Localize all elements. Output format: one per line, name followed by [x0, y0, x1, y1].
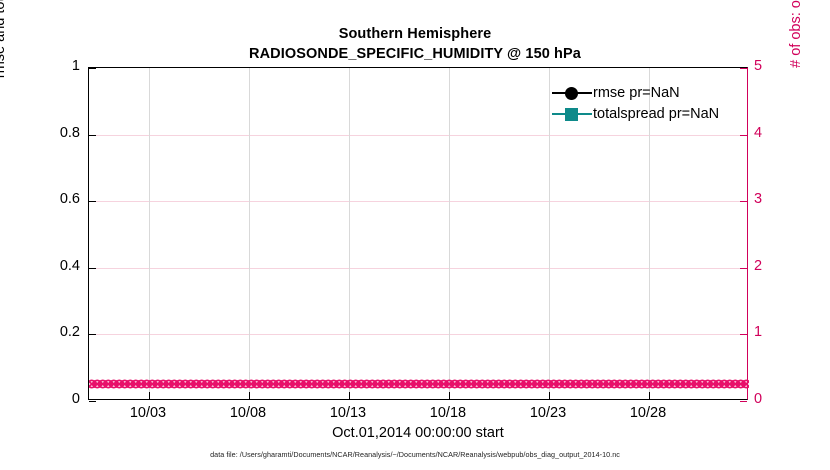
x-axis-tick-label: 10/18 — [408, 405, 488, 421]
y-axis-right-tick-label: 2 — [754, 258, 794, 274]
y-axis-left-title: rmse and totalspread — [0, 0, 8, 125]
observation-count-markers — [89, 384, 747, 400]
y-axis-left-tick-label: 0.6 — [20, 191, 80, 207]
x-axis-tick-label: 10/23 — [508, 405, 588, 421]
legend-label-totalspread: totalspread pr=NaN — [592, 106, 719, 122]
y-axis-right-tick-label: 3 — [754, 191, 794, 207]
x-axis-tick-label: 10/08 — [208, 405, 288, 421]
obs-marker-svg — [89, 375, 749, 393]
y-axis-left-tick-label: 0.2 — [20, 324, 80, 340]
tick-mark-left — [89, 401, 96, 402]
data-file-note: data file: /Users/gharamti/Documents/NCA… — [0, 450, 830, 459]
x-axis-tick-label: 10/28 — [608, 405, 688, 421]
circle-marker-icon — [565, 87, 578, 100]
y-axis-left-tick-label: 0 — [20, 391, 80, 407]
x-axis-tick-label: 10/03 — [108, 405, 188, 421]
legend-entry-rmse: rmse pr=NaN — [552, 82, 748, 103]
legend-label-rmse: rmse pr=NaN — [592, 85, 680, 101]
legend-swatch-totalspread — [552, 106, 592, 122]
y-axis-left-tick-label: 0.8 — [20, 125, 80, 141]
legend-entry-totalspread: totalspread pr=NaN — [552, 103, 748, 124]
title-line-region: Southern Hemisphere — [0, 24, 830, 44]
legend-swatch-rmse — [552, 85, 592, 101]
title-line-variable: RADIOSONDE_SPECIFIC_HUMIDITY @ 150 hPa — [0, 44, 830, 64]
legend: rmse pr=NaN totalspread pr=NaN — [552, 82, 748, 124]
y-axis-right-tick-label: 4 — [754, 125, 794, 141]
y-axis-right-tick-label: 0 — [754, 391, 794, 407]
y-axis-left-tick-label: 1 — [20, 58, 80, 74]
y-axis-right-title: # of obs: o=possible; x=assimilated — [788, 0, 804, 100]
figure-title: Southern Hemisphere RADIOSONDE_SPECIFIC_… — [0, 24, 830, 64]
square-marker-icon — [565, 108, 578, 121]
x-axis-title: Oct.01,2014 00:00:00 start — [88, 425, 748, 441]
y-axis-right-tick-label: 1 — [754, 324, 794, 340]
x-axis-tick-label: 10/13 — [308, 405, 388, 421]
tick-mark-right — [740, 401, 747, 402]
y-axis-left-tick-label: 0.4 — [20, 258, 80, 274]
